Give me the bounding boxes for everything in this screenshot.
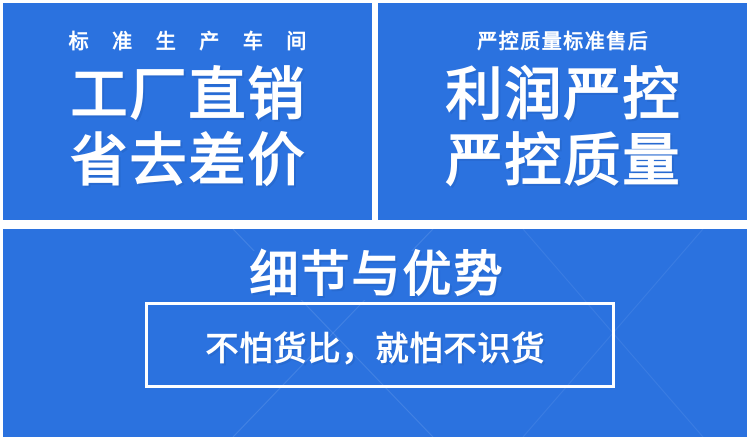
right-panel-headline-line1: 利润严控 xyxy=(444,66,682,124)
left-panel-headline-line2: 省去差价 xyxy=(69,132,307,190)
bottom-panel-title: 细节与优势 xyxy=(231,251,520,300)
panel-quality-control: 严控质量标准售后 利润严控 严控质量 xyxy=(378,3,747,220)
bottom-panel-title-wrap: 细节与优势 xyxy=(3,251,747,300)
panel-factory-direct: 标 准 生 产 车 间 工厂直销 省去差价 xyxy=(3,3,372,220)
bottom-panel-subtitle: 不怕货比，就怕不识货 xyxy=(3,332,747,365)
right-panel-headline-line2: 严控质量 xyxy=(444,132,682,190)
promo-banner: 标 准 生 产 车 间 工厂直销 省去差价 严控质量标准售后 利润严控 严控质量… xyxy=(0,0,750,440)
top-panel-row: 标 准 生 产 车 间 工厂直销 省去差价 严控质量标准售后 利润严控 严控质量 xyxy=(3,3,747,220)
left-panel-eyebrow: 标 准 生 产 车 间 xyxy=(60,32,316,52)
right-panel-eyebrow: 严控质量标准售后 xyxy=(476,32,650,52)
left-panel-headline-line1: 工厂直销 xyxy=(69,66,307,124)
panel-details-advantages: 细节与优势 不怕货比，就怕不识货 xyxy=(3,229,747,437)
